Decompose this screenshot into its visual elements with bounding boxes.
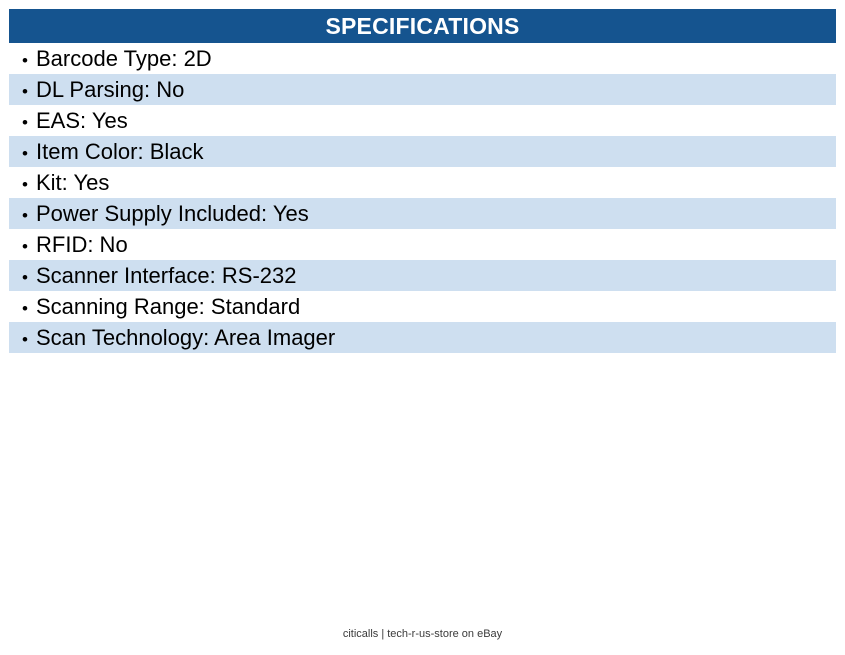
spec-row: •DL Parsing: No [9,74,836,105]
spec-row-label: DL Parsing: No [36,77,184,102]
bullet-icon: • [22,293,36,322]
spec-row-label: EAS: Yes [36,108,128,133]
spec-row: •Item Color: Black [9,136,836,167]
specifications-panel: SPECIFICATIONS •Barcode Type: 2D•DL Pars… [9,9,836,353]
bullet-icon: • [22,76,36,105]
spec-row: •Power Supply Included: Yes [9,198,836,229]
specifications-header: SPECIFICATIONS [9,9,836,43]
spec-row-label: Item Color: Black [36,139,204,164]
spec-row: •EAS: Yes [9,105,836,136]
bullet-icon: • [22,138,36,167]
bullet-icon: • [22,231,36,260]
bullet-icon: • [22,169,36,198]
spec-row: •Scan Technology: Area Imager [9,322,836,353]
spec-row-label: Power Supply Included: Yes [36,201,309,226]
spec-row-label: Scan Technology: Area Imager [36,325,335,350]
bullet-icon: • [22,324,36,353]
spec-row: •Scanner Interface: RS-232 [9,260,836,291]
bullet-icon: • [22,262,36,291]
spec-row: •Barcode Type: 2D [9,43,836,74]
spec-row-label: Scanner Interface: RS-232 [36,263,296,288]
footer-attribution: citicalls | tech-r-us-store on eBay [0,628,845,640]
spec-row-label: Kit: Yes [36,170,109,195]
spec-row-label: Scanning Range: Standard [36,294,300,319]
specifications-list: •Barcode Type: 2D•DL Parsing: No•EAS: Ye… [9,43,836,353]
spec-row: •Kit: Yes [9,167,836,198]
bullet-icon: • [22,200,36,229]
spec-row-label: RFID: No [36,232,128,257]
spec-row-label: Barcode Type: 2D [36,46,212,71]
bullet-icon: • [22,45,36,74]
spec-row: •Scanning Range: Standard [9,291,836,322]
bullet-icon: • [22,107,36,136]
spec-row: •RFID: No [9,229,836,260]
